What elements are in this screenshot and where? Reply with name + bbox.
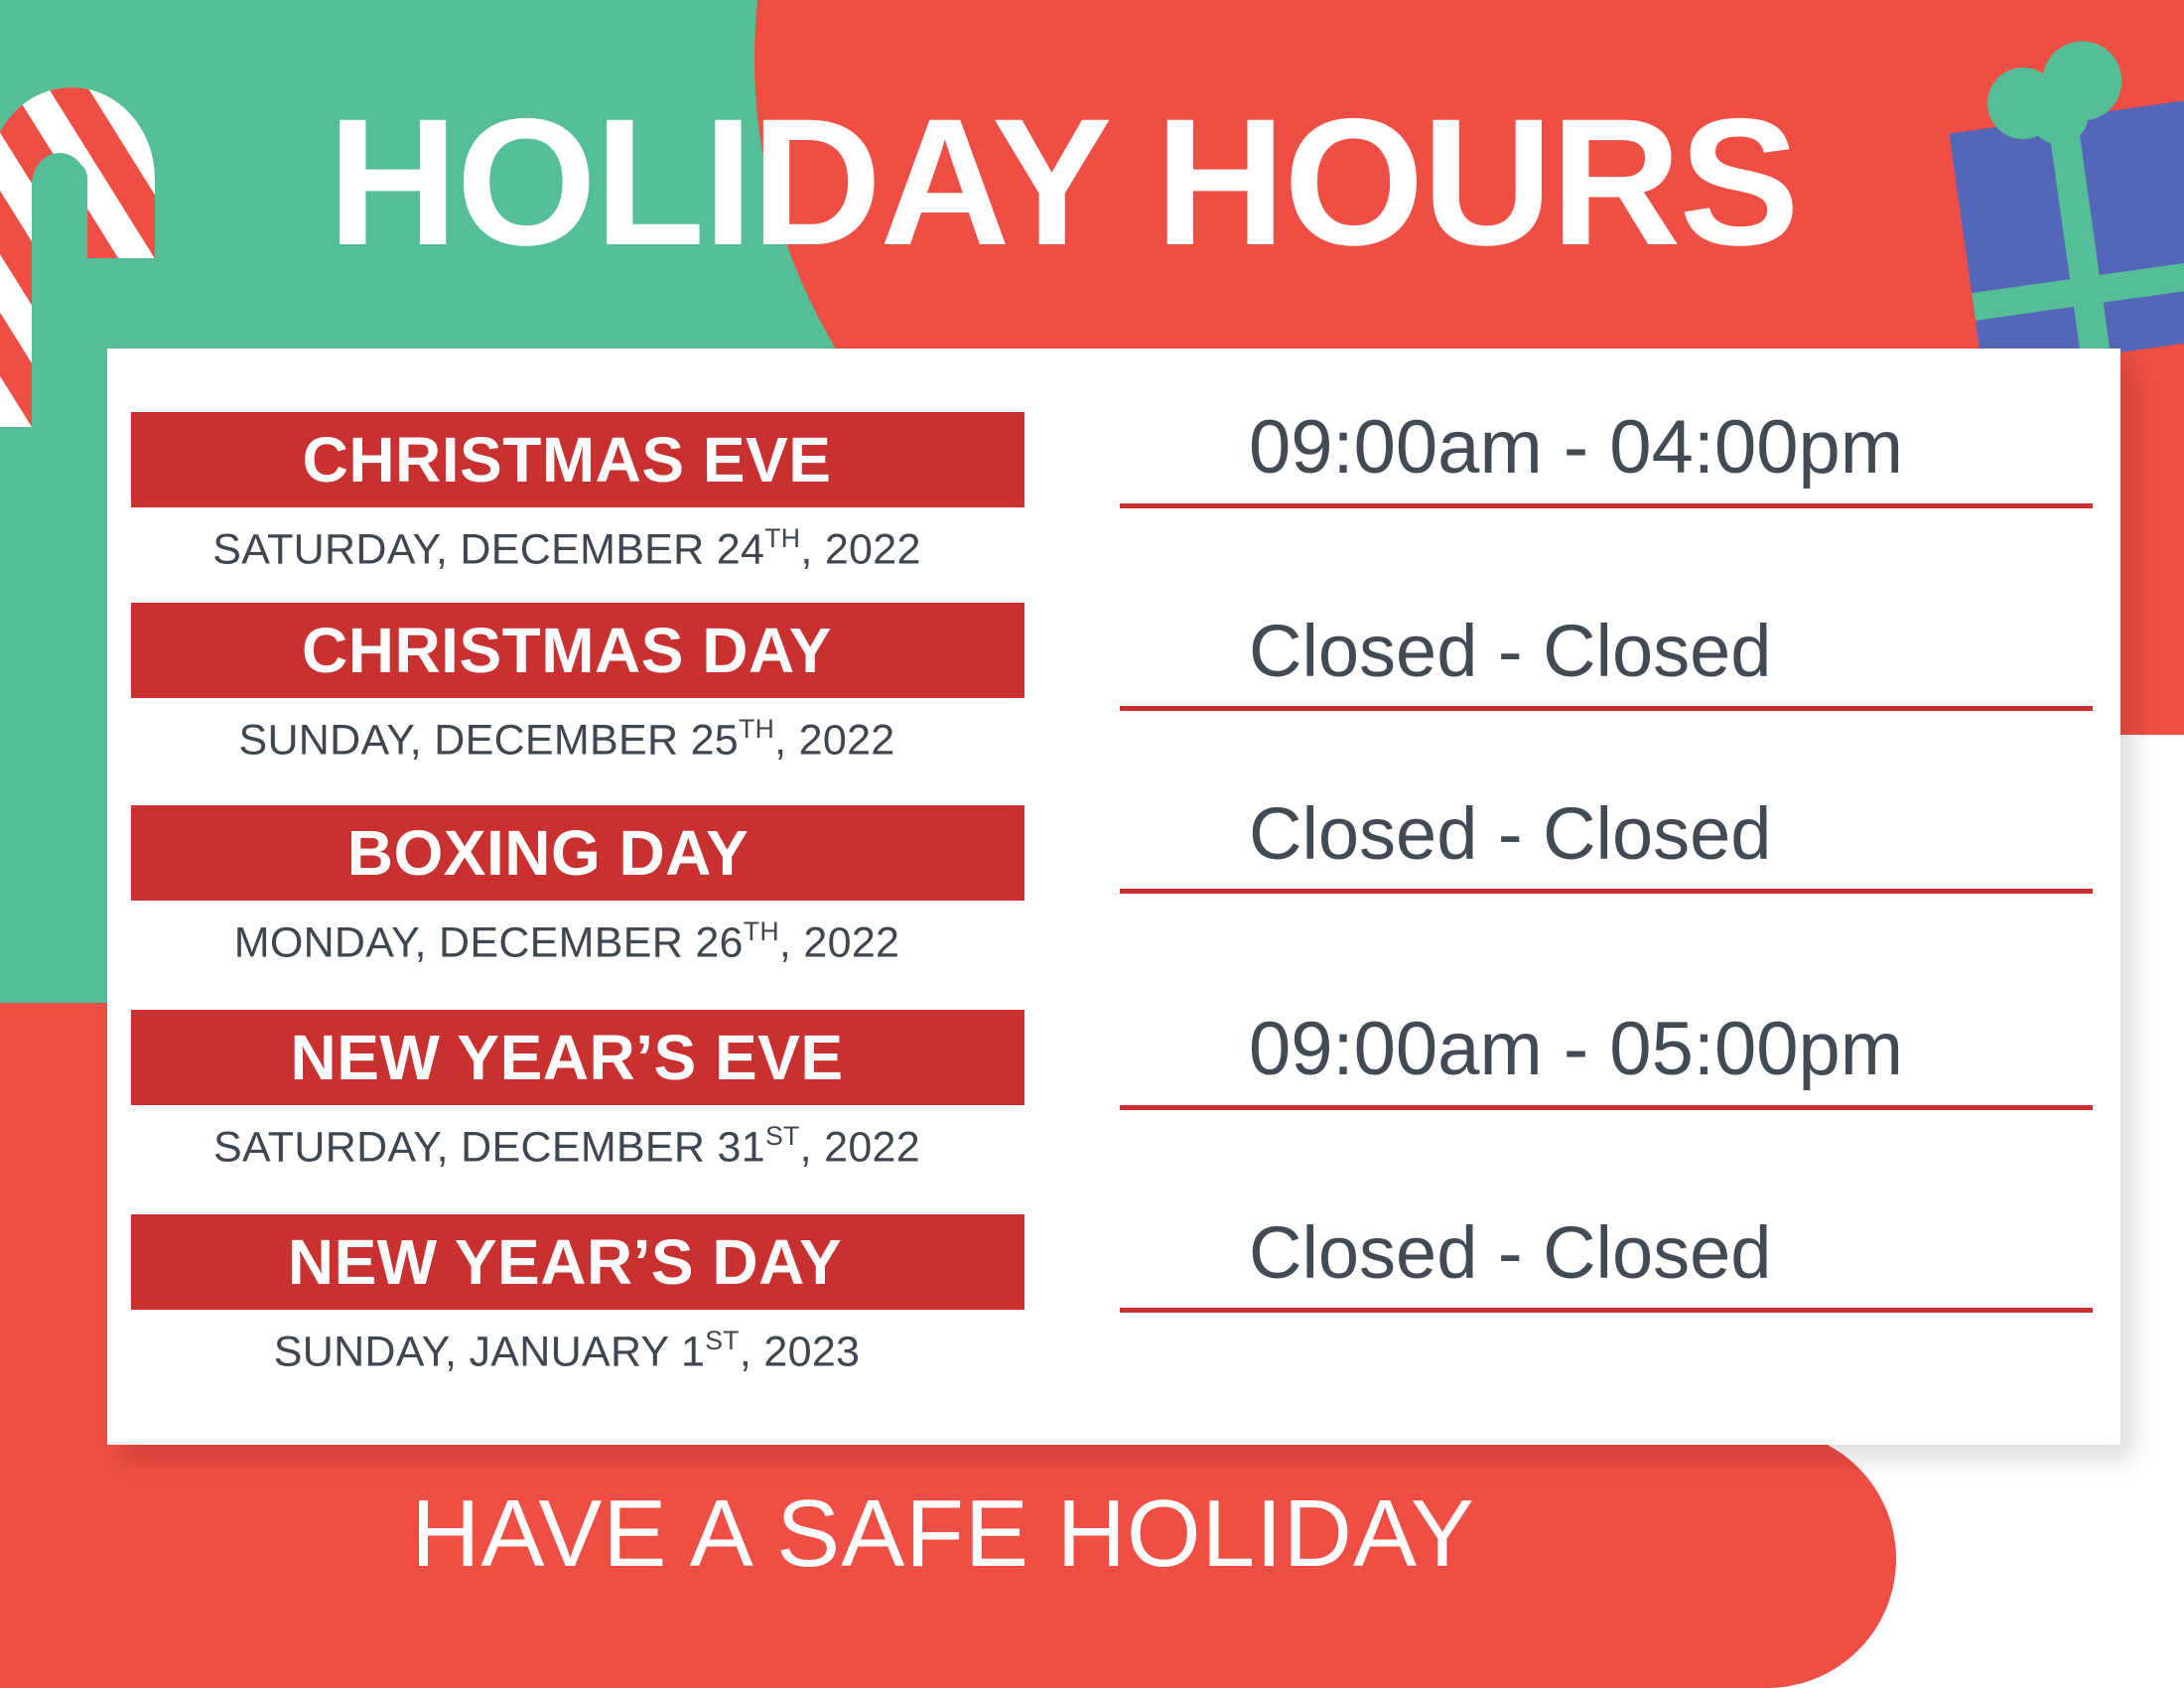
schedule-row-left: CHRISTMAS DAYSUNDAY, DECEMBER 25TH, 2022 — [131, 603, 1024, 766]
holiday-date-ordinal: TH — [744, 916, 779, 946]
holiday-date-year: , 2022 — [800, 1124, 920, 1172]
holiday-date: SUNDAY, JANUARY 1ST, 2023 — [131, 1326, 1024, 1377]
schedule-row-right: Closed - Closed — [1120, 1202, 2113, 1313]
holiday-date: MONDAY, DECEMBER 26TH, 2022 — [131, 916, 1024, 968]
holiday-label-bar: NEW YEAR’S EVE — [131, 1010, 1024, 1105]
hours-underline — [1120, 503, 2093, 508]
holiday-hours: Closed - Closed — [1120, 1202, 2113, 1290]
holiday-date-prefix: SUNDAY, DECEMBER 25 — [238, 717, 739, 765]
holiday-date-ordinal: TH — [764, 523, 800, 553]
schedule-row: NEW YEAR’S EVESATURDAY, DECEMBER 31ST, 2… — [107, 968, 2120, 1175]
schedule-row: BOXING DAYMONDAY, DECEMBER 26TH, 2022Clo… — [107, 762, 2120, 968]
footer-message: HAVE A SAFE HOLIDAY — [0, 1479, 1886, 1589]
holiday-date-prefix: MONDAY, DECEMBER 26 — [234, 919, 744, 967]
holiday-label-bar: NEW YEAR’S DAY — [131, 1214, 1024, 1310]
holiday-label-bar: CHRISTMAS EVE — [131, 412, 1024, 507]
holiday-hours: Closed - Closed — [1120, 601, 2113, 688]
holiday-date: SATURDAY, DECEMBER 31ST, 2022 — [131, 1121, 1024, 1173]
schedule-row-right: 09:00am - 04:00pm — [1120, 396, 2113, 508]
hours-underline — [1120, 889, 2093, 894]
holiday-name: BOXING DAY — [347, 821, 750, 885]
schedule-row-left: BOXING DAYMONDAY, DECEMBER 26TH, 2022 — [131, 805, 1024, 968]
schedule-card: CHRISTMAS EVESATURDAY, DECEMBER 24TH, 20… — [107, 349, 2120, 1445]
holiday-date-ordinal: TH — [739, 714, 774, 744]
holiday-name: NEW YEAR’S DAY — [288, 1230, 842, 1294]
holiday-date: SUNDAY, DECEMBER 25TH, 2022 — [131, 714, 1024, 766]
holiday-date-year: , 2022 — [779, 919, 899, 967]
schedule-row-left: NEW YEAR’S DAYSUNDAY, JANUARY 1ST, 2023 — [131, 1214, 1024, 1377]
schedule-row: NEW YEAR’S DAYSUNDAY, JANUARY 1ST, 2023C… — [107, 1175, 2120, 1403]
schedule-row-right: 09:00am - 05:00pm — [1120, 998, 2113, 1110]
schedule-row-left: NEW YEAR’S EVESATURDAY, DECEMBER 31ST, 2… — [131, 1010, 1024, 1173]
schedule-row-right: Closed - Closed — [1120, 783, 2113, 894]
holiday-hours: 09:00am - 04:00pm — [1120, 396, 2113, 486]
holiday-name: CHRISTMAS EVE — [303, 428, 832, 492]
hours-underline — [1120, 1105, 2093, 1110]
hours-underline — [1120, 1308, 2093, 1313]
holiday-date-ordinal: ST — [705, 1326, 740, 1355]
schedule-row: CHRISTMAS DAYSUNDAY, DECEMBER 25TH, 2022… — [107, 555, 2120, 762]
holiday-label-bar: CHRISTMAS DAY — [131, 603, 1024, 698]
holiday-hours-poster: HOLIDAY HOURS CHRISTMAS EVESATURDAY, DEC… — [0, 0, 2184, 1688]
holiday-date-year: , 2022 — [774, 717, 894, 765]
holiday-hours: 09:00am - 05:00pm — [1120, 998, 2113, 1087]
page-title: HOLIDAY HOURS — [328, 91, 1936, 272]
holiday-label-bar: BOXING DAY — [131, 805, 1024, 901]
holiday-date-ordinal: ST — [765, 1121, 800, 1151]
hours-underline — [1120, 706, 2093, 711]
holiday-date-year: , 2023 — [740, 1329, 860, 1376]
holiday-date-prefix: SATURDAY, DECEMBER 31 — [213, 1124, 765, 1172]
holiday-date-prefix: SUNDAY, JANUARY 1 — [274, 1329, 705, 1376]
schedule-row: CHRISTMAS EVESATURDAY, DECEMBER 24TH, 20… — [107, 349, 2120, 555]
schedule-row-right: Closed - Closed — [1120, 601, 2113, 711]
gift-box-icon — [1946, 30, 2184, 357]
holiday-hours: Closed - Closed — [1120, 783, 2113, 871]
holiday-name: NEW YEAR’S EVE — [290, 1026, 843, 1089]
schedule-row-left: CHRISTMAS EVESATURDAY, DECEMBER 24TH, 20… — [131, 412, 1024, 575]
holiday-name: CHRISTMAS DAY — [302, 619, 832, 682]
schedule-rows: CHRISTMAS EVESATURDAY, DECEMBER 24TH, 20… — [107, 349, 2120, 1403]
